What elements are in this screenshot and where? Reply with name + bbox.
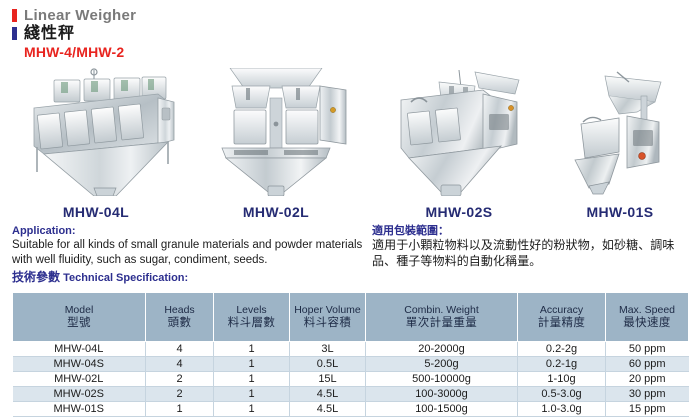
linear-weigher-2head-icon (196, 68, 356, 196)
title-line-chinese: 綫性秤 (12, 24, 412, 43)
cell-hoper-volume: 15L (290, 372, 366, 387)
column-header-heads: Heads 頭數 (146, 293, 214, 342)
column-header-levels-zh: 料斗層數 (215, 317, 288, 330)
cell-max-speed: 30 ppm (606, 387, 689, 402)
cell-model: MHW-02S (13, 387, 146, 402)
column-header-model: Model 型號 (13, 293, 146, 342)
product-item-mhw-02l[interactable]: MHW-02L (196, 68, 356, 220)
model-code-label: MHW-4/MHW-2 (24, 44, 412, 60)
cell-max-speed: 60 ppm (606, 357, 689, 372)
product-caption: MHW-01S (545, 204, 695, 220)
cell-model: MHW-04S (13, 357, 146, 372)
cell-levels: 1 (214, 357, 290, 372)
column-header-levels: Levels 料斗層數 (214, 293, 290, 342)
application-heading-english: Application: (12, 224, 364, 238)
cell-heads: 2 (146, 387, 214, 402)
product-caption: MHW-02S (383, 204, 535, 220)
column-header-hoper-volume-zh: 料斗容積 (291, 317, 364, 330)
technical-specification-heading: 技術參數 Technical Specification: (12, 268, 188, 285)
red-square-bullet-icon (12, 9, 17, 22)
cell-heads: 2 (146, 372, 214, 387)
column-header-accuracy: Accuracy 計量精度 (518, 293, 606, 342)
table-row: MHW-02L 2 1 15L 500-10000g 1-10g 20 ppm (13, 372, 689, 387)
page-title-block: Linear Weigher 綫性秤 MHW-4/MHW-2 (12, 7, 412, 60)
cell-accuracy: 0.2-2g (518, 342, 606, 357)
technical-specification-table: Model 型號 Heads 頭數 Levels 料斗層數 Hoper Volu… (12, 292, 689, 417)
table-row: MHW-02S 2 1 4.5L 100-3000g 0.5-3.0g 30 p… (13, 387, 689, 402)
column-header-combin-weight-en: Combin. Weight (367, 304, 516, 317)
page-title-chinese: 綫性秤 (24, 24, 75, 43)
table-row: MHW-04S 4 1 0.5L 5-200g 0.2-1g 60 ppm (13, 357, 689, 372)
application-body-chinese: 適用于小顆粒物料以及流動性好的粉狀物，如砂糖、調味品、種子等物料的自動化稱量。 (372, 238, 694, 269)
column-header-hoper-volume-en: Hoper Volume (291, 304, 364, 317)
cell-max-speed: 20 ppm (606, 372, 689, 387)
product-caption: MHW-02L (196, 204, 356, 220)
cell-model: MHW-01S (13, 402, 146, 417)
linear-weigher-2head-small-icon (383, 68, 535, 196)
table-row: MHW-04L 4 1 3L 20-2000g 0.2-2g 50 ppm (13, 342, 689, 357)
cell-combin-weight: 500-10000g (366, 372, 518, 387)
table-header: Model 型號 Heads 頭數 Levels 料斗層數 Hoper Volu… (13, 293, 689, 342)
table-row: MHW-01S 1 1 4.5L 100-1500g 1.0-3.0g 15 p… (13, 402, 689, 417)
application-section-chinese: 適用包裝範圍： 適用于小顆粒物料以及流動性好的粉狀物，如砂糖、調味品、種子等物料… (372, 224, 694, 269)
cell-hoper-volume: 0.5L (290, 357, 366, 372)
application-section-english: Application: Suitable for all kinds of s… (12, 224, 364, 267)
application-body-english: Suitable for all kinds of small granule … (12, 238, 364, 267)
cell-combin-weight: 100-1500g (366, 402, 518, 417)
cell-accuracy: 1.0-3.0g (518, 402, 606, 417)
title-line-english: Linear Weigher (12, 7, 412, 24)
cell-hoper-volume: 3L (290, 342, 366, 357)
product-item-mhw-01s[interactable]: MHW-01S (545, 68, 695, 220)
product-gallery: MHW-04L (0, 68, 700, 220)
product-item-mhw-04l[interactable]: MHW-04L (8, 68, 184, 220)
cell-hoper-volume: 4.5L (290, 387, 366, 402)
product-caption: MHW-04L (8, 204, 184, 220)
cell-levels: 1 (214, 342, 290, 357)
column-header-hoper-volume: Hoper Volume 料斗容積 (290, 293, 366, 342)
cell-accuracy: 1-10g (518, 372, 606, 387)
cell-hoper-volume: 4.5L (290, 402, 366, 417)
cell-levels: 1 (214, 402, 290, 417)
cell-model: MHW-02L (13, 372, 146, 387)
cell-combin-weight: 20-2000g (366, 342, 518, 357)
application-heading-chinese: 適用包裝範圍： (372, 224, 694, 238)
cell-levels: 1 (214, 372, 290, 387)
column-header-heads-zh: 頭數 (147, 317, 212, 330)
cell-accuracy: 0.2-1g (518, 357, 606, 372)
linear-weigher-4head-icon (8, 68, 184, 196)
column-header-model-en: Model (14, 304, 144, 317)
column-header-levels-en: Levels (215, 304, 288, 317)
table-header-row: Model 型號 Heads 頭數 Levels 料斗層數 Hoper Volu… (13, 293, 689, 342)
column-header-heads-en: Heads (147, 304, 212, 317)
cell-heads: 4 (146, 342, 214, 357)
cell-heads: 4 (146, 357, 214, 372)
spec-heading-english: Technical Specification: (63, 272, 188, 284)
column-header-combin-weight: Combin. Weight 單次計量重量 (366, 293, 518, 342)
column-header-max-speed: Max. Speed 最快速度 (606, 293, 689, 342)
cell-accuracy: 0.5-3.0g (518, 387, 606, 402)
spec-heading-chinese: 技術參數 (12, 270, 60, 284)
cell-max-speed: 15 ppm (606, 402, 689, 417)
cell-combin-weight: 5-200g (366, 357, 518, 372)
column-header-accuracy-zh: 計量精度 (519, 317, 604, 330)
cell-combin-weight: 100-3000g (366, 387, 518, 402)
column-header-max-speed-en: Max. Speed (607, 304, 687, 317)
page-title-english: Linear Weigher (24, 7, 136, 24)
linear-weigher-1head-icon (545, 68, 695, 196)
cell-max-speed: 50 ppm (606, 342, 689, 357)
cell-model: MHW-04L (13, 342, 146, 357)
product-item-mhw-02s[interactable]: MHW-02S (383, 68, 535, 220)
cell-heads: 1 (146, 402, 214, 417)
column-header-combin-weight-zh: 單次計量重量 (367, 317, 516, 330)
column-header-accuracy-en: Accuracy (519, 304, 604, 317)
table-body: MHW-04L 4 1 3L 20-2000g 0.2-2g 50 ppm MH… (13, 342, 689, 417)
navy-square-bullet-icon (12, 27, 17, 40)
cell-levels: 1 (214, 387, 290, 402)
column-header-max-speed-zh: 最快速度 (607, 317, 687, 330)
column-header-model-zh: 型號 (14, 317, 144, 330)
